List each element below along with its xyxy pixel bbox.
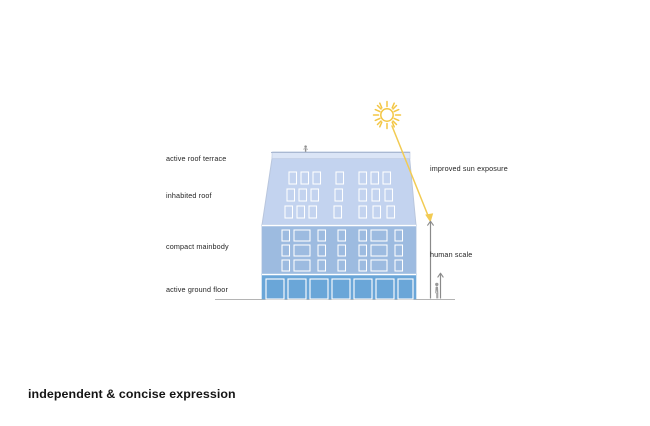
building-section-diagram <box>0 0 650 426</box>
label-active-ground-floor: active ground floor <box>166 286 228 293</box>
compact-mainbody-shape <box>262 225 416 274</box>
active-ground-floor-volume <box>262 274 416 299</box>
slide-caption: independent & concise expression <box>28 388 236 400</box>
ground-person-figure <box>435 283 438 299</box>
label-improved-sun-exposure: improved sun exposure <box>430 165 508 172</box>
active-ground-floor-shape <box>262 274 416 299</box>
building-height-arrow <box>427 221 433 298</box>
roof-person-figure <box>303 145 308 151</box>
human-scale-arrow <box>438 273 444 298</box>
compact-mainbody-volume <box>262 225 416 274</box>
label-compact-mainbody: compact mainbody <box>166 243 229 250</box>
label-human-scale: human scale <box>430 251 472 258</box>
label-active-roof-terrace: active roof terrace <box>166 155 226 162</box>
label-inhabited-roof: inhabited roof <box>166 192 212 199</box>
slide-canvas: active roof terrace inhabited roof compa… <box>0 0 650 426</box>
inhabited-roof-volume <box>262 152 416 225</box>
sun-icon <box>374 102 401 129</box>
